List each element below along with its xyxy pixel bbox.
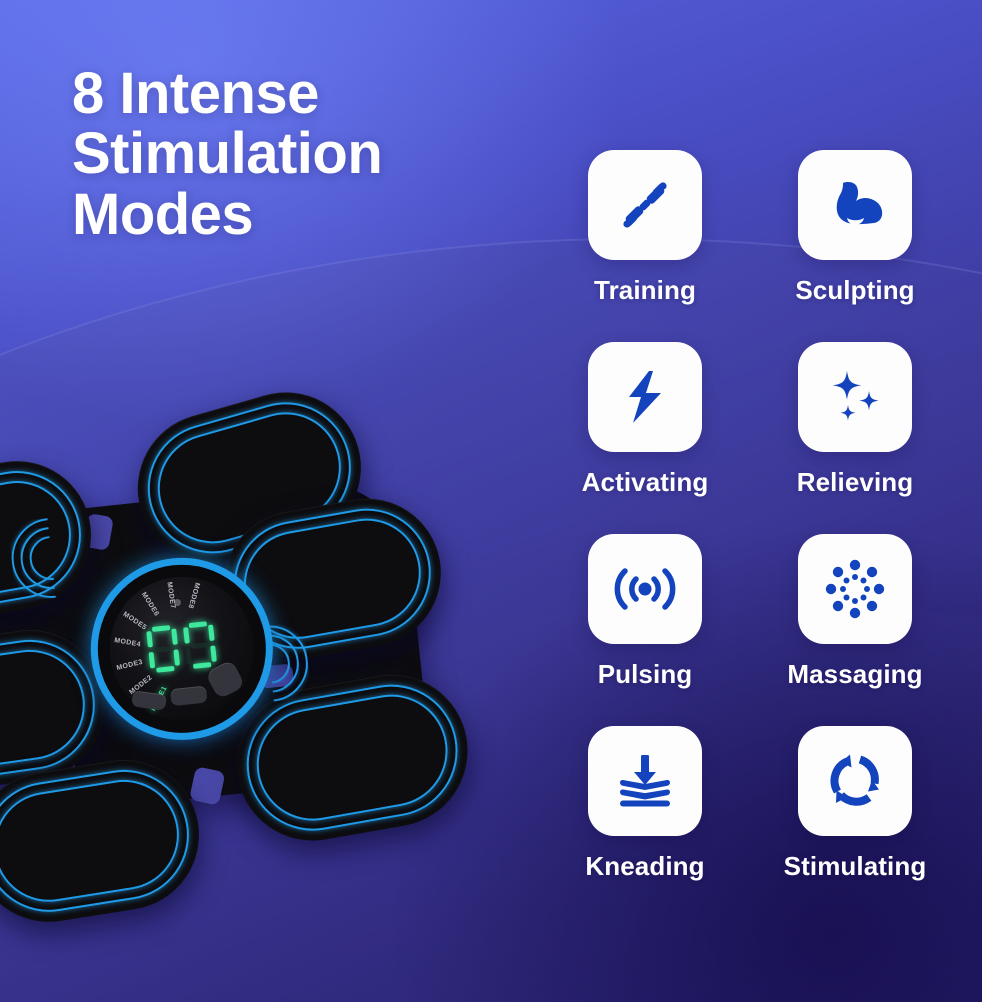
lightning-bolt-icon [613, 365, 677, 429]
hub-mode-label: MODE4 [114, 637, 142, 649]
hub-mode-label: MODE8 [186, 582, 200, 610]
sparkles-icon [823, 365, 887, 429]
mode-item-pulsing[interactable]: Pulsing [540, 534, 750, 690]
title-line-3: Modes [72, 185, 502, 245]
led-digit [183, 621, 218, 670]
mode-item-relieving[interactable]: Relieving [750, 342, 960, 498]
mode-item-kneading[interactable]: Kneading [540, 726, 750, 882]
mode-label: Relieving [797, 467, 914, 498]
mode-label: Sculpting [795, 275, 914, 306]
mode-icon-card[interactable] [798, 342, 912, 452]
device-notch [189, 766, 225, 805]
mode-label: Activating [582, 467, 709, 498]
title-line-2: Stimulation [72, 124, 502, 184]
mode-icon-card[interactable] [798, 726, 912, 836]
hub-mode-label: MODE3 [116, 659, 144, 672]
stimulation-modes-grid: Training Sculpting Activating [540, 150, 960, 882]
hub-mode-label: MODE5 [122, 611, 148, 632]
mode-icon-card[interactable] [588, 726, 702, 836]
mode-label: Training [594, 275, 696, 306]
hub-mode-label: MODE6 [140, 591, 160, 618]
mode-icon-card[interactable] [588, 342, 702, 452]
mode-label: Massaging [787, 659, 922, 690]
press-down-icon [613, 749, 677, 813]
mode-item-sculpting[interactable]: Sculpting [750, 150, 960, 306]
page-title: 8 Intense Stimulation Modes [72, 64, 502, 245]
hub-mode-label: MODE7 [165, 581, 176, 609]
hub-minus-button[interactable] [131, 690, 167, 711]
mode-icon-card[interactable] [798, 150, 912, 260]
mode-icon-card[interactable] [798, 534, 912, 644]
promo-banner: 8 Intense Stimulation Modes [0, 0, 982, 1002]
device-control-hub[interactable]: MODE1 MODE2 MODE3 MODE4 MODE5 MODE6 MODE… [90, 557, 275, 742]
mode-icon-card[interactable] [588, 150, 702, 260]
hub-face: MODE1 MODE2 MODE3 MODE4 MODE5 MODE6 MODE… [103, 570, 261, 728]
mode-item-training[interactable]: Training [540, 150, 750, 306]
mode-label: Stimulating [784, 851, 927, 882]
radial-dots-icon [823, 557, 887, 621]
circular-arrows-icon [823, 749, 887, 813]
signal-waves-icon [613, 557, 677, 621]
flexed-bicep-icon [823, 173, 887, 237]
led-digit [146, 624, 181, 673]
mode-label: Kneading [585, 851, 704, 882]
mode-item-stimulating[interactable]: Stimulating [750, 726, 960, 882]
mode-item-activating[interactable]: Activating [540, 342, 750, 498]
mode-item-massaging[interactable]: Massaging [750, 534, 960, 690]
dumbbell-icon [613, 173, 677, 237]
product-device-image: MODE1 MODE2 MODE3 MODE4 MODE5 MODE6 MODE… [0, 370, 533, 926]
title-line-1: 8 Intense [72, 64, 502, 124]
mode-label: Pulsing [598, 659, 693, 690]
mode-icon-card[interactable] [588, 534, 702, 644]
